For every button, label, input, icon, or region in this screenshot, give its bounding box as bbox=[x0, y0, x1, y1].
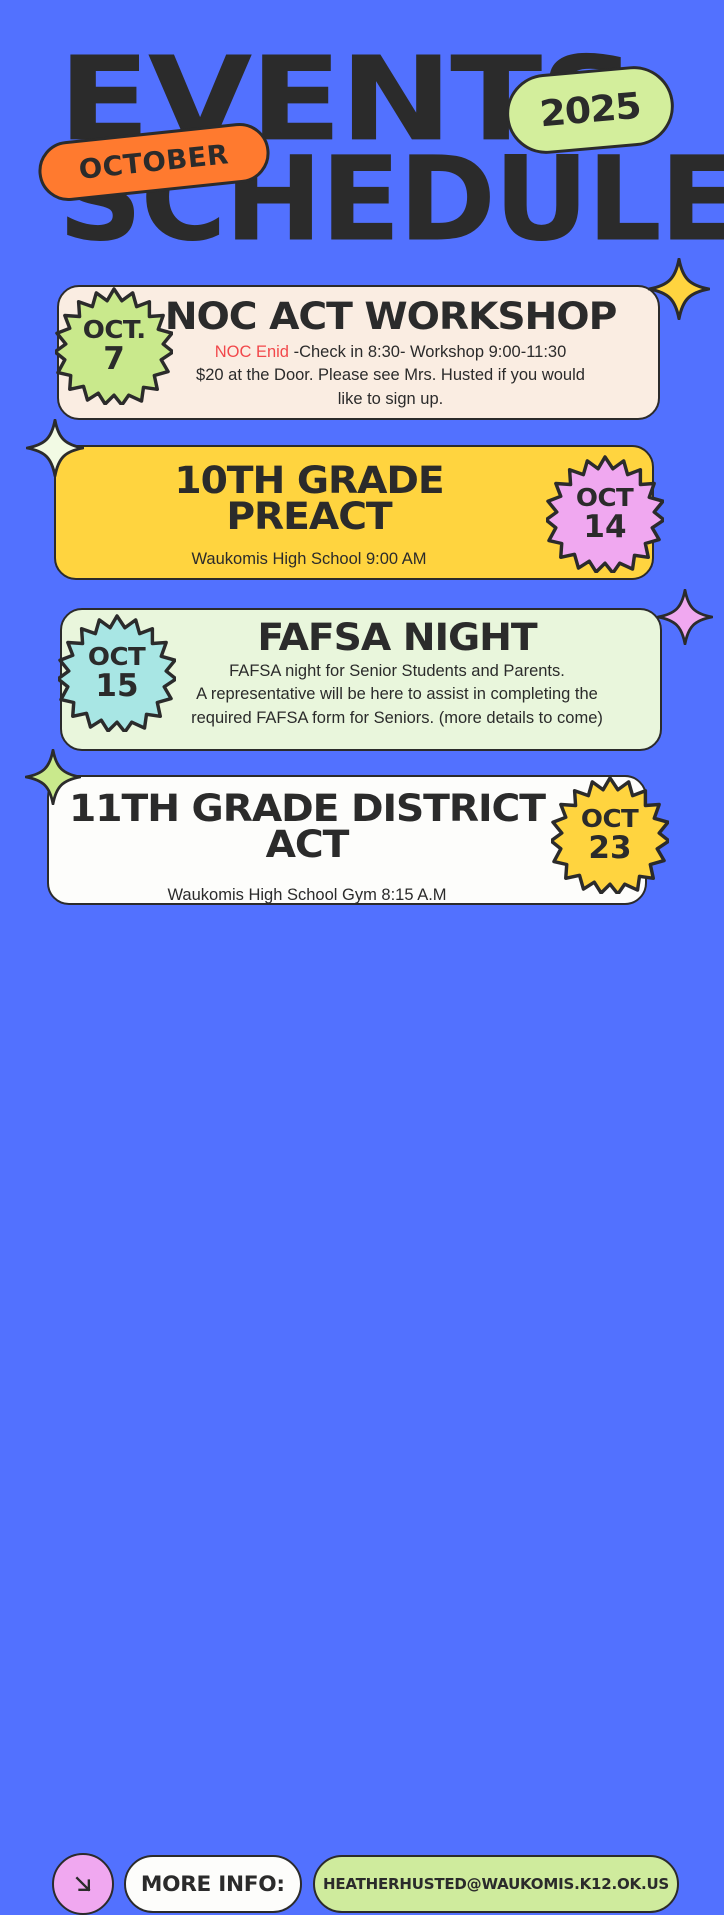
more-info-label: MORE INFO: bbox=[141, 1872, 285, 1896]
more-info-label-pill: MORE INFO: bbox=[124, 1855, 302, 1913]
sparkle-green-left-icon bbox=[25, 749, 81, 810]
event-description-line3: required FAFSA form for Seniors. (more d… bbox=[134, 707, 660, 731]
event-description: FAFSA night for Senior Students and Pare… bbox=[134, 660, 660, 732]
date-badge-month: OCT bbox=[576, 485, 633, 510]
sparkle-pink-right-icon bbox=[657, 589, 713, 650]
date-badge-day: 23 bbox=[588, 833, 631, 864]
event-description-line2: A representative will be here to assist … bbox=[134, 683, 660, 707]
event-description-line3: like to sign up. bbox=[123, 388, 658, 412]
date-badge-oct-15: OCT 15 bbox=[58, 614, 176, 732]
date-badge-oct-14: OCT 14 bbox=[546, 455, 664, 573]
event-description-line1: FAFSA night for Senior Students and Pare… bbox=[134, 660, 660, 684]
date-badge-month: OCT. bbox=[83, 317, 146, 342]
contact-email-pill[interactable]: HEATHERHUSTED@WAUKOMIS.K12.OK.US bbox=[313, 1855, 679, 1913]
date-badge-oct-23: OCT 23 bbox=[551, 776, 669, 894]
event-description-line1: Waukomis High School Gym 8:15 A.M bbox=[49, 884, 565, 908]
contact-email: HEATHERHUSTED@WAUKOMIS.K12.OK.US bbox=[323, 1875, 669, 1893]
event-title: 10TH GRADE PREACT bbox=[41, 463, 577, 534]
event-description-line1: NOC Enid -Check in 8:30- Workshop 9:00-1… bbox=[123, 341, 658, 365]
event-title: 11TH GRADE DISTRICT ACT bbox=[34, 791, 581, 862]
date-badge-day: 15 bbox=[95, 671, 138, 702]
event-description-line1-rest: -Check in 8:30- Workshop 9:00-11:30 bbox=[289, 343, 566, 361]
event-title: FAFSA NIGHT bbox=[118, 620, 676, 656]
arrow-down-right-button[interactable] bbox=[52, 1853, 114, 1915]
event-description-line1: Waukomis High School 9:00 AM bbox=[56, 548, 562, 572]
month-pill-label: OCTOBER bbox=[78, 139, 231, 186]
date-badge-oct-7: OCT. 7 bbox=[55, 287, 173, 405]
arrow-down-right-icon bbox=[69, 1870, 97, 1898]
event-description: Waukomis High School Gym 8:15 A.M bbox=[49, 884, 565, 908]
event-highlight-text: NOC Enid bbox=[215, 343, 289, 361]
event-title-line2: ACT bbox=[34, 827, 581, 863]
event-description: NOC Enid -Check in 8:30- Workshop 9:00-1… bbox=[123, 341, 658, 413]
date-badge-month: OCT bbox=[88, 644, 145, 669]
event-description: Waukomis High School 9:00 AM bbox=[56, 548, 562, 572]
event-title-line2: PREACT bbox=[41, 499, 577, 535]
events-schedule-poster: EVENTS SCHEDULE 2025 OCTOBER NOC ACT WOR… bbox=[0, 0, 724, 1024]
date-badge-day: 7 bbox=[103, 344, 125, 375]
event-title-line1: 10TH GRADE bbox=[41, 463, 577, 499]
event-title: NOC ACT WORKSHOP bbox=[107, 299, 674, 335]
event-title-line1: 11TH GRADE DISTRICT bbox=[34, 791, 581, 827]
year-badge-label: 2025 bbox=[538, 85, 642, 135]
sparkle-cream-left-icon bbox=[26, 419, 84, 482]
poster-footer: MORE INFO: HEATHERHUSTED@WAUKOMIS.K12.OK… bbox=[0, 925, 724, 995]
date-badge-day: 14 bbox=[583, 512, 626, 543]
sparkle-yellow-top-right-icon bbox=[648, 258, 710, 325]
date-badge-month: OCT bbox=[581, 806, 638, 831]
event-description-line2: $20 at the Door. Please see Mrs. Husted … bbox=[123, 364, 658, 388]
poster-header: EVENTS SCHEDULE 2025 OCTOBER bbox=[0, 0, 724, 262]
